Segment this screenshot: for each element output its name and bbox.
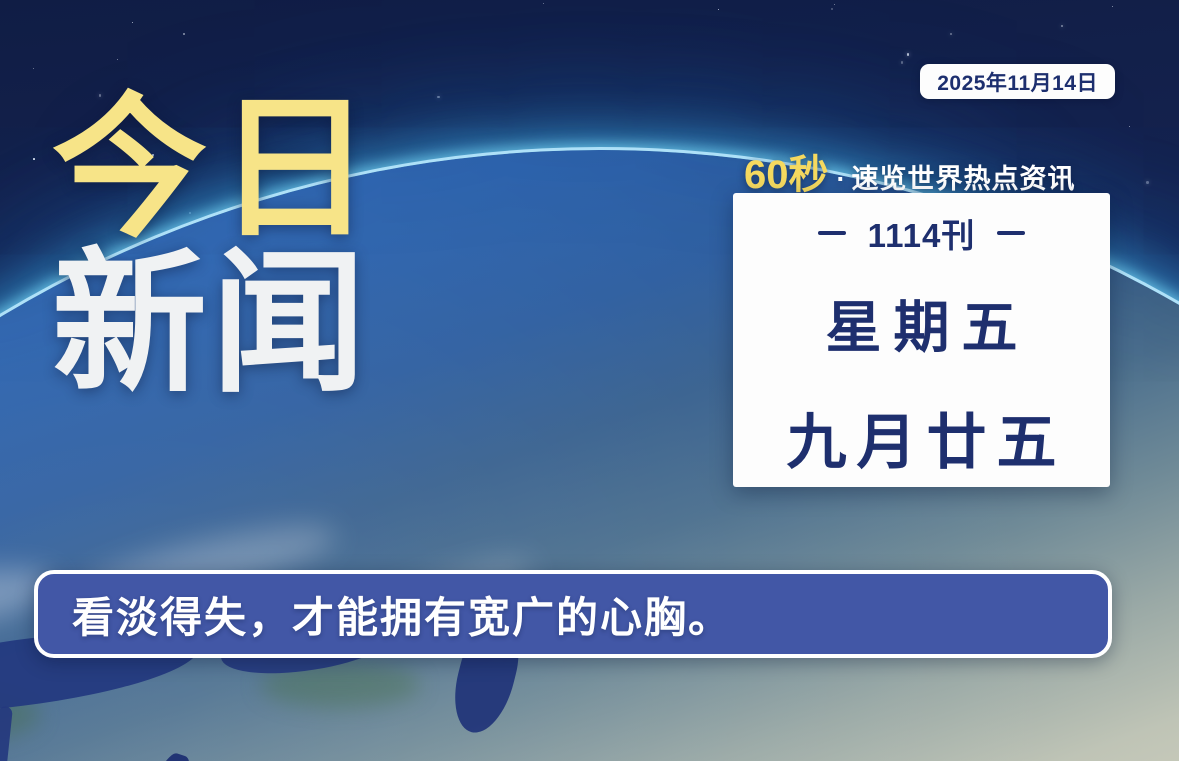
star-icon bbox=[437, 96, 440, 99]
news-poster: 2025年11月14日 今日 新闻 60秒 · 速览世界热点资讯 1114刊 星… bbox=[0, 0, 1179, 761]
star-icon bbox=[718, 9, 719, 10]
tagline-separator: · bbox=[837, 164, 846, 195]
star-icon bbox=[1112, 6, 1113, 7]
star-icon bbox=[132, 22, 133, 23]
page-title: 今日 新闻 bbox=[52, 95, 382, 399]
tagline-seconds: 60秒 bbox=[744, 142, 829, 200]
star-icon bbox=[901, 61, 904, 64]
title-line-today: 今日 bbox=[52, 95, 382, 244]
weekday-label: 星期五 bbox=[814, 283, 1030, 364]
tagline-text: 速览世界热点资讯 bbox=[852, 157, 1076, 196]
star-icon bbox=[543, 3, 544, 4]
star-icon bbox=[1129, 126, 1130, 127]
title-line-news: 新闻 bbox=[52, 250, 382, 399]
red-sea bbox=[101, 748, 202, 761]
star-icon bbox=[33, 68, 35, 70]
star-icon bbox=[950, 33, 952, 35]
star-icon bbox=[1061, 25, 1064, 28]
star-icon bbox=[33, 158, 35, 160]
star-icon bbox=[117, 59, 118, 60]
issue-row: 1114刊 bbox=[818, 209, 1026, 257]
quote-text: 看淡得失，才能拥有宽广的心胸。 bbox=[72, 584, 732, 645]
tagline: 60秒 · 速览世界热点资讯 bbox=[744, 142, 1076, 200]
quote-bar: 看淡得失，才能拥有宽广的心胸。 bbox=[34, 570, 1112, 658]
star-icon bbox=[831, 8, 833, 10]
dash-right-icon bbox=[997, 231, 1025, 235]
date-badge: 2025年11月14日 bbox=[920, 64, 1115, 99]
star-icon bbox=[907, 53, 909, 55]
star-icon bbox=[183, 33, 185, 35]
info-card: 1114刊 星期五 九月廿五 bbox=[733, 193, 1110, 487]
dash-left-icon bbox=[818, 231, 846, 235]
issue-number: 1114刊 bbox=[868, 209, 976, 257]
star-icon bbox=[834, 4, 835, 5]
lunar-date-label: 九月廿五 bbox=[777, 394, 1067, 481]
star-icon bbox=[1146, 181, 1149, 184]
